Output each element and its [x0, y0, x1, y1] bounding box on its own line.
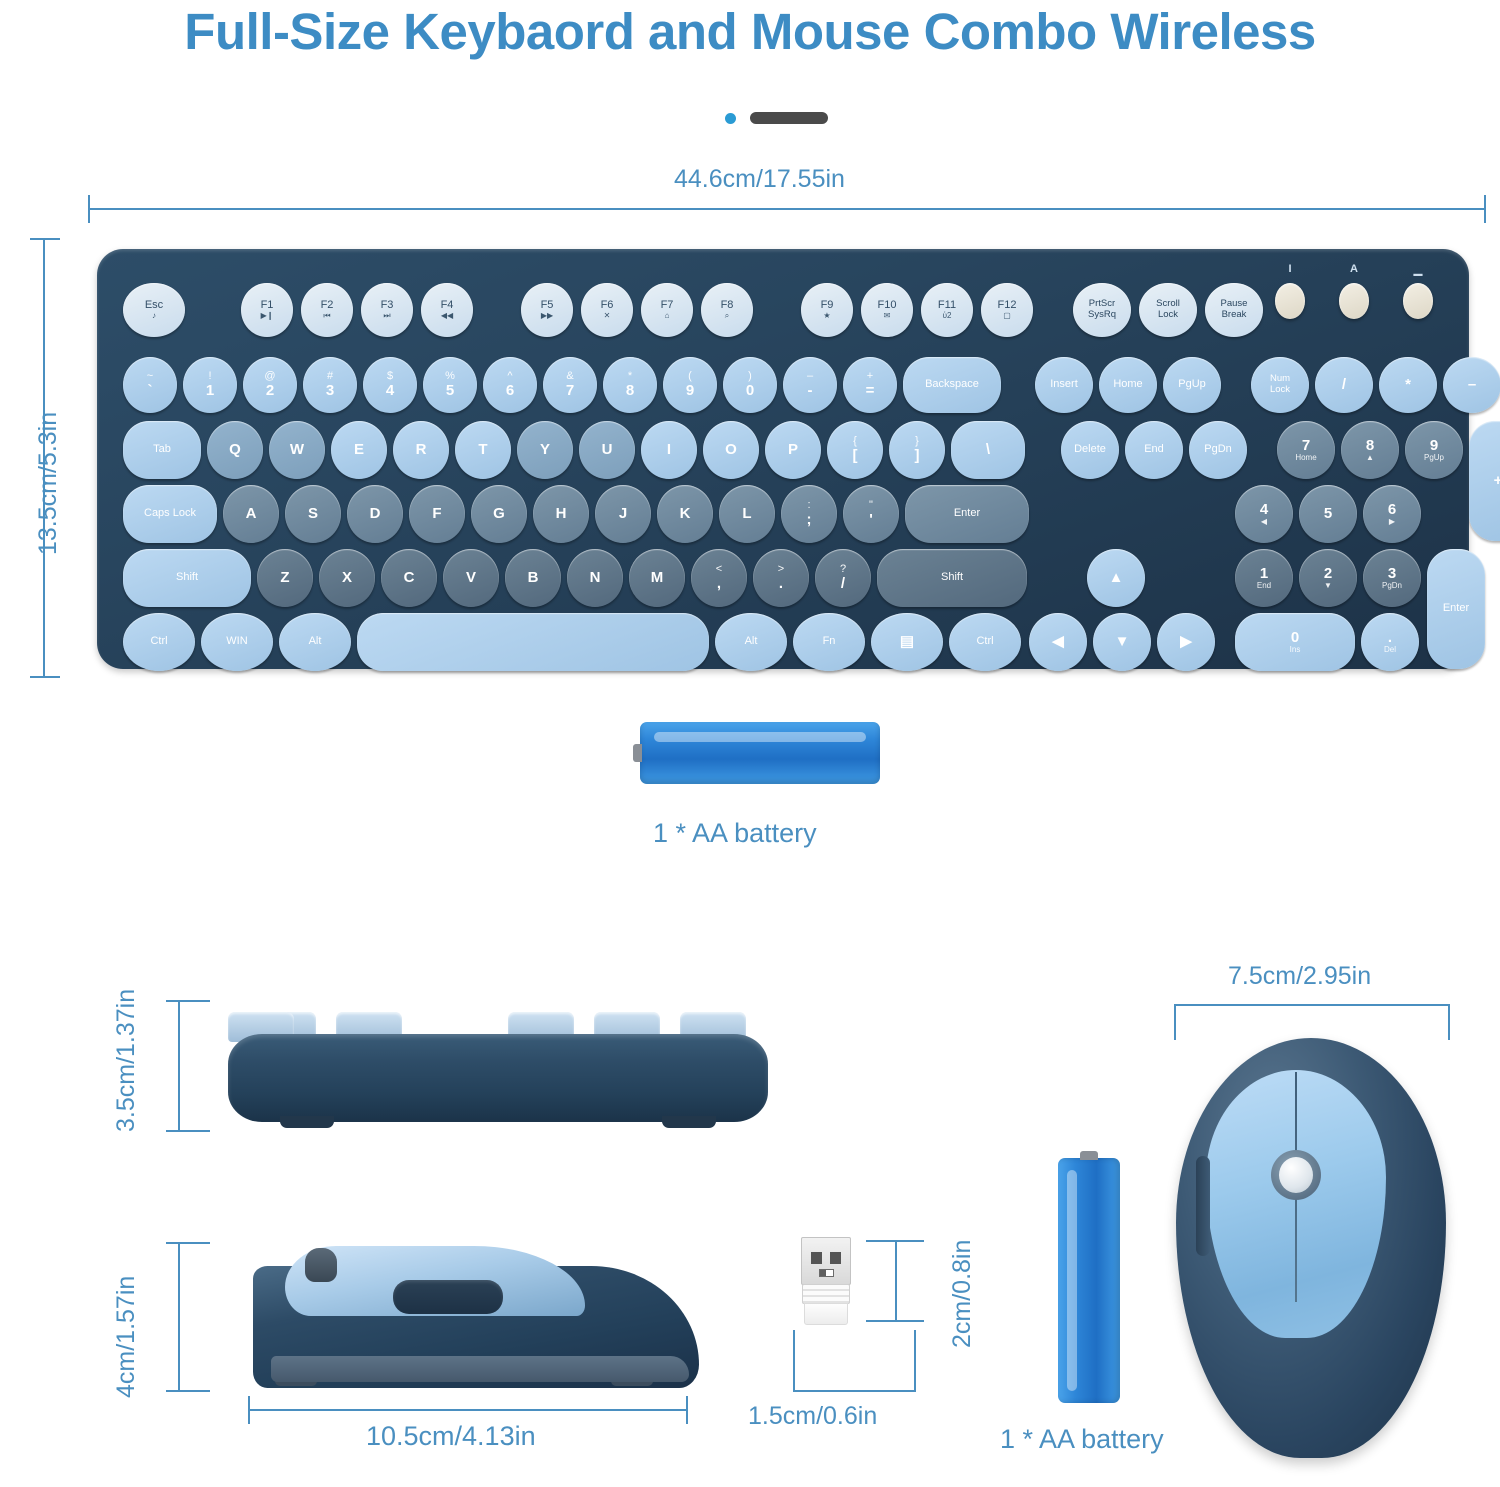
key-label-shift: F4: [441, 300, 454, 312]
key-win[interactable]: WIN: [201, 613, 273, 671]
key-g[interactable]: G: [471, 485, 527, 543]
dim-line-mouse-width: [1174, 1004, 1450, 1006]
key-label-alt: ◀: [1261, 518, 1267, 526]
key-label-shift: F9: [821, 300, 834, 312]
mouse-side-base: [271, 1356, 689, 1382]
keyboard-foot-right: [662, 1116, 716, 1128]
key-label: Insert: [1050, 379, 1078, 391]
key-label-shift: #: [327, 371, 333, 383]
key-label: 1: [1260, 566, 1268, 582]
key-s[interactable]: S: [285, 485, 341, 543]
key-enter[interactable]: Enter: [905, 485, 1029, 543]
dim-cap-kb-height-top: [166, 1000, 210, 1002]
key-f4[interactable]: F4◀◀: [421, 283, 473, 337]
dim-cap-usb-w-right: [914, 1330, 916, 1392]
key-label: –: [1468, 377, 1476, 393]
key-x[interactable]: X: [319, 549, 375, 607]
key-label: /: [841, 576, 845, 592]
mouse-battery: [1058, 1158, 1120, 1403]
key-bracket-left[interactable]: {[: [827, 421, 883, 479]
key-label-shift: F12: [998, 300, 1017, 312]
key-8[interactable]: *8: [603, 357, 657, 413]
key-label: Delete: [1074, 444, 1106, 456]
key-label-shift: F7: [661, 300, 674, 312]
key-label-alt: ★: [823, 312, 830, 320]
key-numpad-5[interactable]: 5: [1299, 485, 1357, 543]
key-quote[interactable]: "': [843, 485, 899, 543]
key-t[interactable]: T: [455, 421, 511, 479]
dim-cap-mouse-w-left: [1174, 1004, 1176, 1040]
key-label: F: [432, 506, 441, 522]
keyboard-arrow-up-row: ▲: [1087, 549, 1145, 607]
key-label: \: [986, 442, 990, 458]
key-label: V: [466, 570, 476, 586]
led-label-group: I A ▁: [1275, 263, 1433, 276]
key-q[interactable]: Q: [207, 421, 263, 479]
keyboard-foot-left: [280, 1116, 334, 1128]
caps-lock-led-icon: [1339, 283, 1369, 319]
key-label: S: [308, 506, 318, 522]
keyboard-numpad-row-bottom: 0Ins.Del: [1235, 613, 1419, 671]
key-label: =: [866, 383, 875, 399]
key-label: M: [651, 570, 664, 586]
key-label: 9: [686, 383, 694, 399]
keyboard-battery-caption: 1 * AA battery: [653, 818, 817, 849]
key-label: 5: [446, 383, 454, 399]
key-3[interactable]: #3: [303, 357, 357, 413]
dim-cap-mouse-h-top: [166, 1242, 210, 1244]
dim-line-keyboard-depth: [43, 238, 45, 676]
key-label: 4: [1260, 502, 1268, 518]
key-label: Ctrl: [976, 636, 993, 648]
key-h[interactable]: H: [533, 485, 589, 543]
key-label: WIN: [226, 636, 247, 648]
key-label: ◀: [1052, 634, 1064, 650]
key-label: Z: [280, 570, 289, 586]
key-f6[interactable]: F6✕: [581, 283, 633, 337]
key-label: 6: [1388, 502, 1396, 518]
key-num-lock[interactable]: NumLock: [1251, 357, 1309, 413]
key-label-shift: +: [867, 371, 873, 383]
key-label-shift: %: [445, 371, 455, 383]
key-label-alt: ♪: [152, 312, 156, 320]
key-scroll-lock[interactable]: ScrollLock: [1139, 283, 1197, 337]
key-backtick[interactable]: ~`: [123, 357, 177, 413]
dim-cap-usb-h-bottom: [866, 1320, 924, 1322]
usb-housing: [804, 1303, 848, 1325]
key-label-alt: ▢: [1003, 312, 1011, 320]
key-label-alt: Home: [1295, 454, 1316, 462]
key-label-alt: ◀◀: [441, 312, 453, 320]
key-label-shift: ^: [507, 371, 512, 383]
dim-label-mouse-length: 10.5cm/4.13in: [366, 1421, 536, 1452]
dim-cap-mouse-len-left: [248, 1396, 250, 1424]
led-label-caps: A: [1339, 263, 1369, 276]
dim-cap-kb-height-bottom: [166, 1130, 210, 1132]
key-e[interactable]: E: [331, 421, 387, 479]
key-p[interactable]: P: [765, 421, 821, 479]
led-indicator-group: [1275, 283, 1433, 319]
led-label-num: I: [1275, 263, 1305, 276]
key-label-alt: ⏭: [383, 312, 390, 320]
key-label: -: [808, 383, 813, 399]
mouse-top-side-button: [1196, 1156, 1210, 1256]
key-label-shift: F8: [721, 300, 734, 312]
key-l[interactable]: L: [719, 485, 775, 543]
mouse-side-button: [393, 1280, 503, 1314]
key-pause-break[interactable]: PauseBreak: [1205, 283, 1263, 337]
key-label-shift: !: [208, 371, 211, 383]
key-label: Ctrl: [150, 636, 167, 648]
key-label-shift: –: [807, 371, 813, 383]
key-numpad-2[interactable]: 2▼: [1299, 549, 1357, 607]
key-label: Enter: [1443, 603, 1469, 615]
key-label: I: [667, 442, 671, 458]
key-label: 8: [1366, 438, 1374, 454]
dim-cap-usb-w-left: [793, 1330, 795, 1392]
key-home[interactable]: Home: [1099, 357, 1157, 413]
key-f8[interactable]: F8⌕: [701, 283, 753, 337]
key-pgdn[interactable]: PgDn: [1189, 421, 1247, 479]
keyboard-numpad-row-mid: 4◀56▶: [1235, 485, 1421, 543]
key-label: E: [354, 442, 364, 458]
key-label: Q: [229, 442, 241, 458]
key-gap: [1007, 357, 1029, 413]
key-label-alt: ὑ2: [943, 312, 952, 320]
key-label: ▼: [1115, 634, 1130, 650]
usb-tongue: [819, 1269, 834, 1277]
key-label: 7: [566, 383, 574, 399]
num-lock-led-icon: [1275, 283, 1305, 319]
key-numpad-4[interactable]: 4◀: [1235, 485, 1293, 543]
key-shift-right[interactable]: Shift: [877, 549, 1027, 607]
key-label-shift: <: [716, 564, 722, 576]
dim-line-keyboard-height: [178, 1000, 180, 1132]
key-label: 9: [1430, 438, 1438, 454]
key-label-shift: F11: [938, 300, 956, 312]
key-f3[interactable]: F3⏭: [361, 283, 413, 337]
key-gap: [1227, 357, 1245, 413]
key-9[interactable]: (9: [663, 357, 717, 413]
key-arrow-up[interactable]: ▲: [1087, 549, 1145, 607]
key-ctrl-right[interactable]: Ctrl: [949, 613, 1021, 671]
key-label: W: [290, 442, 304, 458]
key-label: 3: [326, 383, 334, 399]
keyboard-top-view: I A ▁ Esc♪F1▶❙F2⏮F3⏭F4◀◀F5▶▶F6✕F7⌂F8⌕F9★…: [97, 249, 1469, 669]
key-label: Shift: [176, 572, 198, 584]
dim-label-usb-width: 1.5cm/0.6in: [748, 1402, 877, 1431]
key-label: ]: [915, 448, 920, 464]
key-label: .: [1388, 630, 1392, 646]
dim-cap-left: [88, 195, 90, 223]
keyboard-plate: I A ▁ Esc♪F1▶❙F2⏮F3⏭F4◀◀F5▶▶F6✕F7⌂F8⌕F9★…: [105, 257, 1461, 661]
key-label: 3: [1388, 566, 1396, 582]
key-label: T: [478, 442, 487, 458]
key-numpad-8[interactable]: 8▲: [1341, 421, 1399, 479]
key-minus[interactable]: –-: [783, 357, 837, 413]
usb-contact-left: [811, 1252, 822, 1264]
key-f12[interactable]: F12▢: [981, 283, 1033, 337]
key-label: A: [246, 506, 257, 522]
key-w[interactable]: W: [269, 421, 325, 479]
key-label-alt: ✉: [884, 312, 891, 320]
key-label: Break: [1222, 310, 1247, 321]
key-m[interactable]: M: [629, 549, 685, 607]
key-arrow-right[interactable]: ▶: [1157, 613, 1215, 671]
key-label: 0: [1291, 630, 1299, 646]
mouse-top-view: [1176, 1038, 1446, 1458]
keyboard-row-zxcv: ShiftZXCVBNM<,>.?/Shift: [123, 549, 1027, 607]
mouse-side-scroll-wheel: [305, 1248, 337, 1282]
usb-ridges: [802, 1284, 850, 1304]
key-label-alt: ▶❙: [261, 312, 274, 320]
key-label: Alt: [309, 636, 322, 648]
key-label: Enter: [954, 508, 980, 520]
key-label: G: [493, 506, 505, 522]
key-label-alt: ⌂: [665, 312, 670, 320]
key-numpad-9[interactable]: 9PgUp: [1405, 421, 1463, 479]
key-label: ▤: [900, 634, 914, 650]
key-f5[interactable]: F5▶▶: [521, 283, 573, 337]
key-slash[interactable]: ?/: [815, 549, 871, 607]
key-period[interactable]: >.: [753, 549, 809, 607]
key-label-shift: >: [778, 564, 784, 576]
key-gap: [761, 283, 793, 337]
keyboard-side-body: [228, 1034, 768, 1122]
usb-contact-right: [830, 1252, 841, 1264]
key-label: *: [1405, 377, 1411, 393]
key-tab[interactable]: Tab: [123, 421, 201, 479]
key-label-alt: Del: [1384, 646, 1396, 654]
key-label: ▲: [1109, 570, 1124, 586]
led-label-battery: ▁: [1403, 263, 1433, 276]
key-label: 0: [746, 383, 754, 399]
dim-label-usb-height: 2cm/0.8in: [948, 1240, 977, 1348]
key-4[interactable]: $4: [363, 357, 417, 413]
key-label: 1: [206, 383, 214, 399]
key-label-shift: *: [628, 371, 632, 383]
dim-cap-mouse-h-bottom: [166, 1390, 210, 1392]
dim-line-mouse-height: [178, 1242, 180, 1392]
key-numpad-divide[interactable]: /: [1315, 357, 1373, 413]
key-label-alt: Ins: [1290, 646, 1301, 654]
dim-line-mouse-length: [248, 1409, 688, 1411]
key-label-shift: ): [748, 371, 752, 383]
key-label: ,: [717, 576, 721, 592]
key-label: PgDn: [1204, 444, 1232, 456]
dim-cap-bottom: [30, 676, 60, 678]
key-label: ▶: [1180, 634, 1192, 650]
key-v[interactable]: V: [443, 549, 499, 607]
dim-line-usb-height: [895, 1240, 897, 1322]
key-i[interactable]: I: [641, 421, 697, 479]
mouse-scroll-wheel-icon: [1279, 1157, 1313, 1193]
key-label: ;: [807, 512, 812, 528]
dim-label-keyboard-height: 3.5cm/1.37in: [112, 989, 141, 1132]
key-label-alt: ⌕: [725, 312, 729, 320]
keyboard-battery: [640, 722, 880, 784]
key-f11[interactable]: F11ὑ2: [921, 283, 973, 337]
dim-cap-top: [30, 238, 60, 240]
key-z[interactable]: Z: [257, 549, 313, 607]
key-label-shift: (: [688, 371, 692, 383]
key-label: 2: [266, 383, 274, 399]
key-c[interactable]: C: [381, 549, 437, 607]
key-numpad-1[interactable]: 1End: [1235, 549, 1293, 607]
key-label: Caps Lock: [144, 508, 196, 520]
key-label-alt: ⏮: [323, 312, 330, 320]
key-label: D: [370, 506, 381, 522]
key-f9[interactable]: F9★: [801, 283, 853, 337]
key-label-shift: {: [853, 436, 857, 448]
key-label-shift: @: [264, 371, 275, 383]
key-f7[interactable]: F7⌂: [641, 283, 693, 337]
key-label: B: [528, 570, 539, 586]
key-semicolon[interactable]: :;: [781, 485, 837, 543]
key-equal[interactable]: +=: [843, 357, 897, 413]
key-label: 8: [626, 383, 634, 399]
key-label-shift: F10: [878, 300, 897, 312]
key-label: Backspace: [925, 379, 979, 391]
key-shift-left[interactable]: Shift: [123, 549, 251, 607]
decor-dot: [725, 113, 736, 124]
dim-cap-right: [1484, 195, 1486, 223]
key-prtscr[interactable]: PrtScrSysRq: [1073, 283, 1131, 337]
key-label: Fn: [823, 636, 836, 648]
key-label-shift: ": [869, 500, 873, 512]
key-caps-lock[interactable]: Caps Lock: [123, 485, 217, 543]
key-b[interactable]: B: [505, 549, 561, 607]
key-label-shift: ~: [147, 371, 153, 383]
key-label-shift: F3: [381, 300, 394, 312]
key-label-shift: $: [387, 371, 393, 383]
key-label: Lock: [1158, 310, 1178, 321]
key-7[interactable]: &7: [543, 357, 597, 413]
key-label-alt: End: [1257, 582, 1271, 590]
key-esc[interactable]: Esc♪: [123, 283, 185, 337]
key-a[interactable]: A: [223, 485, 279, 543]
key-label-alt: ▼: [1324, 582, 1332, 590]
key-label: `: [148, 383, 153, 399]
key-1[interactable]: !1: [183, 357, 237, 413]
key-n[interactable]: N: [567, 549, 623, 607]
key-backspace[interactable]: Backspace: [903, 357, 1001, 413]
key-label: R: [416, 442, 427, 458]
dim-label-keyboard-depth: 13.5cm/5.3in: [34, 412, 63, 555]
key-numpad-7[interactable]: 7Home: [1277, 421, 1335, 479]
key-label: 6: [506, 383, 514, 399]
key-label-alt: ▶▶: [541, 312, 553, 320]
key-label: J: [619, 506, 627, 522]
dim-cap-mouse-w-right: [1448, 1004, 1450, 1040]
key-label-shift: Esc: [145, 300, 163, 312]
decor-bar: [750, 112, 828, 124]
key-label: .: [779, 576, 783, 592]
key-numpad-minus[interactable]: –: [1443, 357, 1500, 413]
key-numpad-plus[interactable]: +: [1469, 421, 1500, 541]
key-alt-right[interactable]: Alt: [715, 613, 787, 671]
keyboard-side-view: [228, 1012, 768, 1132]
key-label: U: [602, 442, 613, 458]
key-u[interactable]: U: [579, 421, 635, 479]
key-numpad-multiply[interactable]: *: [1379, 357, 1437, 413]
key-insert[interactable]: Insert: [1035, 357, 1093, 413]
key-label: Alt: [745, 636, 758, 648]
key-0[interactable]: )0: [723, 357, 777, 413]
key-comma[interactable]: <,: [691, 549, 747, 607]
key-label: [: [853, 448, 858, 464]
key-5[interactable]: %5: [423, 357, 477, 413]
key-label: C: [404, 570, 415, 586]
key-j[interactable]: J: [595, 485, 651, 543]
dim-label-mouse-height: 4cm/1.57in: [112, 1276, 141, 1398]
key-f[interactable]: F: [409, 485, 465, 543]
key-numpad-0[interactable]: 0Ins: [1235, 613, 1355, 671]
key-numpad-enter[interactable]: Enter: [1427, 549, 1485, 669]
key-bracket-right[interactable]: }]: [889, 421, 945, 479]
key-label-shift: :: [807, 500, 810, 512]
key-label-shift: F2: [321, 300, 334, 312]
key-2[interactable]: @2: [243, 357, 297, 413]
key-label: Y: [540, 442, 550, 458]
key-numpad-6[interactable]: 6▶: [1363, 485, 1421, 543]
key-label-shift: F6: [601, 300, 614, 312]
key-label-shift: }: [915, 436, 919, 448]
key-ctrl-left[interactable]: Ctrl: [123, 613, 195, 671]
key-space[interactable]: [357, 613, 709, 671]
key-k[interactable]: K: [657, 485, 713, 543]
dim-cap-mouse-len-right: [686, 1396, 688, 1424]
key-fn[interactable]: Fn: [793, 613, 865, 671]
key-label: Shift: [941, 572, 963, 584]
key-pgup[interactable]: PgUp: [1163, 357, 1221, 413]
key-label: 2: [1324, 566, 1332, 582]
key-end[interactable]: End: [1125, 421, 1183, 479]
key-y[interactable]: Y: [517, 421, 573, 479]
key-delete[interactable]: Delete: [1061, 421, 1119, 479]
page-title: Full-Size Keybaord and Mouse Combo Wirel…: [0, 2, 1500, 61]
key-f2[interactable]: F2⏮: [301, 283, 353, 337]
key-gap: [1041, 283, 1065, 337]
key-numpad-decimal[interactable]: .Del: [1361, 613, 1419, 671]
key-arrow-left[interactable]: ◀: [1029, 613, 1087, 671]
key-label: Tab: [153, 444, 171, 456]
key-alt-left[interactable]: Alt: [279, 613, 351, 671]
key-gap: [481, 283, 513, 337]
key-6[interactable]: ^6: [483, 357, 537, 413]
key-arrow-down[interactable]: ▼: [1093, 613, 1151, 671]
keyboard-row-asdf: Caps LockASDFGHJKL:;"'Enter: [123, 485, 1029, 543]
key-menu[interactable]: ▤: [871, 613, 943, 671]
key-label-alt: PgUp: [1424, 454, 1444, 462]
key-r[interactable]: R: [393, 421, 449, 479]
key-f1[interactable]: F1▶❙: [241, 283, 293, 337]
dim-label-mouse-width: 7.5cm/2.95in: [1228, 962, 1371, 991]
key-backslash[interactable]: \: [951, 421, 1025, 479]
key-label: Home: [1113, 379, 1142, 391]
key-numpad-3[interactable]: 3PgDn: [1363, 549, 1421, 607]
key-o[interactable]: O: [703, 421, 759, 479]
key-d[interactable]: D: [347, 485, 403, 543]
key-label-shift: F5: [541, 300, 554, 312]
keyboard-row-bottom: CtrlWINAltAltFn▤Ctrl: [123, 613, 1021, 671]
key-f10[interactable]: F10✉: [861, 283, 913, 337]
keyboard-row-number: ~`!1@2#3$4%5^6&7*8(9)0–-+=BackspaceInser…: [123, 357, 1500, 413]
decor-separator: [725, 112, 828, 124]
key-label: /: [1342, 377, 1346, 393]
key-label: SysRq: [1088, 310, 1116, 321]
key-label: Lock: [1270, 385, 1290, 396]
